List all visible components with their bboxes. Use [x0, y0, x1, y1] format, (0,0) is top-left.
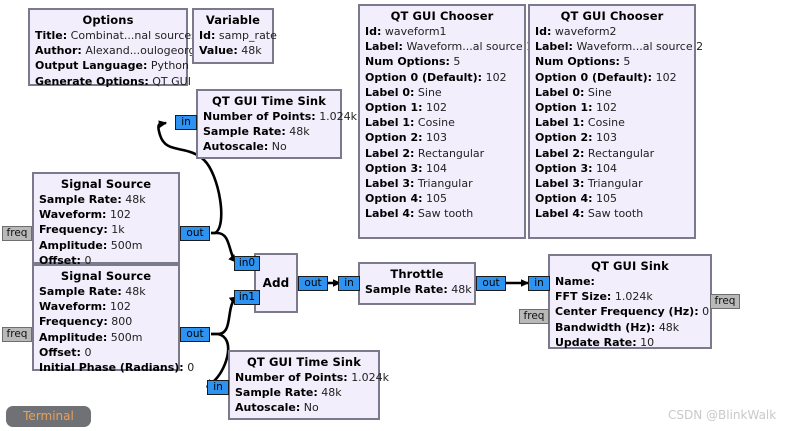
param-row: Id: waveform2 — [535, 24, 689, 39]
port-in0-add[interactable]: in0 — [234, 256, 260, 271]
param-value: 500m — [111, 331, 143, 344]
param-value: 48k — [659, 321, 679, 334]
param-value: Cosine — [588, 116, 625, 129]
param-value: 1.024k — [351, 371, 389, 384]
param-row: Title: Combinat...nal sources — [35, 28, 181, 43]
param-key: Bandwidth (Hz): — [555, 321, 655, 334]
param-row: Frequency: 1k — [39, 222, 173, 237]
param-row: Initial Phase (Radians): 0 — [39, 360, 173, 375]
param-key: Frequency: — [39, 223, 108, 236]
param-key: Label 0: — [365, 86, 414, 99]
param-key: Initial Phase (Radians): — [39, 361, 184, 374]
param-key: Author: — [35, 44, 82, 57]
block-add[interactable]: Add — [254, 253, 298, 313]
param-value: 800 — [111, 315, 132, 328]
param-value: Alexand...oulogeorgos — [85, 44, 208, 57]
param-value: 105 — [426, 192, 447, 205]
param-row: Update Rate: 10 — [555, 335, 705, 350]
param-value: Python — [151, 59, 189, 72]
param-key: Option 3: — [365, 162, 423, 175]
param-value: Triangular — [418, 177, 473, 190]
param-key: Number of Points: — [235, 371, 348, 384]
block-title: Throttle — [365, 266, 469, 282]
block-title: QT GUI Time Sink — [235, 354, 373, 370]
param-value: 48k — [289, 125, 309, 138]
port-in-timesink-bottom[interactable]: in — [207, 380, 229, 395]
param-key: Autoscale: — [203, 140, 268, 153]
param-key: Amplitude: — [39, 239, 107, 252]
param-key: Label 4: — [365, 207, 414, 220]
param-value: No — [304, 401, 319, 414]
param-key: Number of Points: — [203, 110, 316, 123]
param-row: Option 3: 104 — [365, 161, 519, 176]
param-key: Option 0 (Default): — [535, 71, 652, 84]
param-key: Option 2: — [365, 131, 423, 144]
param-row: Amplitude: 500m — [39, 330, 173, 345]
param-row: Number of Points: 1.024k — [203, 109, 335, 124]
param-key: Label 1: — [535, 116, 584, 129]
param-row: Label 1: Cosine — [535, 115, 689, 130]
block-qt-gui-chooser-2[interactable]: QT GUI Chooser Id: waveform2 Label: Wave… — [528, 4, 696, 239]
param-key: Output Language: — [35, 59, 147, 72]
param-key: Generate Options: — [35, 75, 149, 88]
param-value: 5 — [453, 55, 460, 68]
param-row: Autoscale: No — [235, 400, 373, 415]
param-value: 48k — [321, 386, 341, 399]
param-key: Option 1: — [365, 101, 423, 114]
param-value: Sine — [588, 86, 612, 99]
param-value: 48k — [125, 193, 145, 206]
param-value: 48k — [125, 285, 145, 298]
param-row: Frequency: 800 — [39, 314, 173, 329]
param-key: Waveform: — [39, 208, 106, 221]
param-key: Offset: — [39, 346, 81, 359]
param-value: Sine — [418, 86, 442, 99]
param-key: Sample Rate: — [365, 283, 448, 296]
block-qt-gui-time-sink-top[interactable]: QT GUI Time Sink Number of Points: 1.024… — [196, 89, 342, 159]
param-value: 0 — [84, 346, 91, 359]
param-key: Option 0 (Default): — [365, 71, 482, 84]
param-row: Label 3: Triangular — [535, 176, 689, 191]
param-value: 500m — [111, 239, 143, 252]
param-key: Update Rate: — [555, 336, 637, 349]
param-value: 103 — [596, 131, 617, 144]
param-value: 1.024k — [319, 110, 357, 123]
param-row: Option 1: 102 — [535, 100, 689, 115]
watermark-text: CSDN @BlinkWalk — [668, 407, 776, 423]
block-title: Variable — [199, 12, 267, 28]
port-out-signal-source-2[interactable]: out — [180, 327, 210, 342]
param-row: Output Language: Python — [35, 58, 181, 73]
param-value: Waveform...al source 2 — [576, 40, 703, 53]
param-key: Label 1: — [365, 116, 414, 129]
param-key: Frequency: — [39, 315, 108, 328]
param-row: Label 0: Sine — [365, 85, 519, 100]
block-title: QT GUI Sink — [555, 258, 705, 274]
param-row: Author: Alexand...oulogeorgos — [35, 43, 181, 58]
param-value: Rectangular — [418, 147, 484, 160]
wire-src1-to-add-in0 — [211, 233, 236, 262]
param-key: Sample Rate: — [39, 193, 122, 206]
terminal-button[interactable]: Terminal — [6, 406, 91, 427]
param-key: Id: — [365, 25, 381, 38]
param-value: Waveform...al source 1 — [406, 40, 533, 53]
block-title: Options — [35, 12, 181, 28]
param-row: Autoscale: No — [203, 139, 335, 154]
param-row: Option 2: 103 — [535, 130, 689, 145]
param-key: Label: — [535, 40, 573, 53]
param-row: Label: Waveform...al source 1 — [365, 39, 519, 54]
block-title: Signal Source — [39, 268, 173, 284]
param-value: Combinat...nal sources — [71, 29, 197, 42]
block-title: QT GUI Chooser — [365, 8, 519, 24]
param-row: Offset: 0 — [39, 345, 173, 360]
param-key: Option 3: — [535, 162, 593, 175]
param-row: Label: Waveform...al source 2 — [535, 39, 689, 54]
param-key: Option 2: — [535, 131, 593, 144]
param-value: Saw tooth — [588, 207, 643, 220]
param-row: Value: 48k — [199, 43, 267, 58]
param-key: Label: — [365, 40, 403, 53]
param-key: Label 3: — [535, 177, 584, 190]
param-key: Center Frequency (Hz): — [555, 305, 699, 318]
param-key: Title: — [35, 29, 67, 42]
param-key: Sample Rate: — [235, 386, 318, 399]
param-key: Name: — [555, 275, 595, 288]
param-row: Waveform: 102 — [39, 299, 173, 314]
param-row: Label 2: Rectangular — [535, 146, 689, 161]
port-out-signal-source-1[interactable]: out — [180, 226, 210, 241]
block-qt-gui-chooser-1[interactable]: QT GUI Chooser Id: waveform1 Label: Wave… — [358, 4, 526, 239]
param-value: Rectangular — [588, 147, 654, 160]
param-value: No — [272, 140, 287, 153]
param-value: Cosine — [418, 116, 455, 129]
param-row: Sample Rate: 48k — [39, 284, 173, 299]
param-value: 48k — [451, 283, 471, 296]
param-row: Name: — [555, 274, 705, 289]
block-qt-gui-sink[interactable]: QT GUI Sink Name: FFT Size: 1.024k Cente… — [548, 254, 712, 349]
param-row: Label 0: Sine — [535, 85, 689, 100]
port-in1-add[interactable]: in1 — [234, 290, 260, 305]
param-key: Label 3: — [365, 177, 414, 190]
param-row: Sample Rate: 48k — [39, 192, 173, 207]
param-row: Option 1: 102 — [365, 100, 519, 115]
param-key: FFT Size: — [555, 290, 611, 303]
block-variable[interactable]: Variable Id: samp_rate Value: 48k — [192, 8, 274, 64]
param-value: 102 — [596, 101, 617, 114]
param-value: 102 — [486, 71, 507, 84]
param-value: 1k — [111, 223, 124, 236]
param-row: Label 2: Rectangular — [365, 146, 519, 161]
param-row: Sample Rate: 48k — [203, 124, 335, 139]
param-value: 5 — [623, 55, 630, 68]
param-row: Waveform: 102 — [39, 207, 173, 222]
block-title: QT GUI Chooser — [535, 8, 689, 24]
param-row: Center Frequency (Hz): 0 — [555, 304, 705, 319]
param-value: 103 — [426, 131, 447, 144]
param-key: Autoscale: — [235, 401, 300, 414]
param-value: 102 — [110, 300, 131, 313]
param-value: 105 — [596, 192, 617, 205]
port-out-throttle[interactable]: out — [476, 276, 506, 291]
param-row: Option 4: 105 — [535, 191, 689, 206]
param-row: Label 1: Cosine — [365, 115, 519, 130]
port-freq-right-qt-gui-sink[interactable]: freq — [710, 294, 740, 309]
param-row: Generate Options: QT GUI — [35, 74, 181, 89]
param-row: Option 3: 104 — [535, 161, 689, 176]
port-in-timesink-top[interactable]: in — [175, 115, 197, 130]
param-value: 102 — [656, 71, 677, 84]
param-row: Label 4: Saw tooth — [365, 206, 519, 221]
port-freq-signal-source-2[interactable]: freq — [2, 327, 32, 342]
block-title: QT GUI Time Sink — [203, 93, 335, 109]
block-signal-source-1[interactable]: Signal Source Sample Rate: 48k Waveform:… — [32, 172, 180, 264]
param-row: Option 4: 105 — [365, 191, 519, 206]
param-row: FFT Size: 1.024k — [555, 289, 705, 304]
param-key: Id: — [535, 25, 551, 38]
param-key: Num Options: — [365, 55, 450, 68]
param-row: Id: waveform1 — [365, 24, 519, 39]
param-row: Label 4: Saw tooth — [535, 206, 689, 221]
param-row: Option 0 (Default): 102 — [365, 70, 519, 85]
param-row: Sample Rate: 48k — [235, 385, 373, 400]
param-value: 102 — [110, 208, 131, 221]
block-signal-source-2[interactable]: Signal Source Sample Rate: 48k Waveform:… — [32, 264, 180, 371]
param-row: Label 3: Triangular — [365, 176, 519, 191]
param-value: 10 — [640, 336, 654, 349]
port-out-add[interactable]: out — [298, 276, 328, 291]
param-value: 0 — [187, 361, 194, 374]
param-value: Triangular — [588, 177, 643, 190]
param-value: 102 — [426, 101, 447, 114]
param-row: Bandwidth (Hz): 48k — [555, 320, 705, 335]
param-key: Option 4: — [535, 192, 593, 205]
param-value: Saw tooth — [418, 207, 473, 220]
param-value: 1.024k — [615, 290, 653, 303]
param-key: Id: — [199, 29, 215, 42]
param-row: Num Options: 5 — [535, 54, 689, 69]
port-freq-left-qt-gui-sink[interactable]: freq — [519, 309, 549, 324]
block-throttle[interactable]: Throttle Sample Rate: 48k — [358, 262, 476, 305]
param-value: 48k — [241, 44, 261, 57]
param-value: waveform1 — [385, 25, 447, 38]
param-row: Amplitude: 500m — [39, 238, 173, 253]
param-key: Value: — [199, 44, 238, 57]
param-key: Option 4: — [365, 192, 423, 205]
port-freq-signal-source-1[interactable]: freq — [2, 226, 32, 241]
block-qt-gui-time-sink-bottom[interactable]: QT GUI Time Sink Number of Points: 1.024… — [228, 350, 380, 420]
param-row: Sample Rate: 48k — [365, 282, 469, 297]
flowgraph-canvas[interactable]: Options Title: Combinat...nal sources Au… — [0, 0, 799, 431]
block-options[interactable]: Options Title: Combinat...nal sources Au… — [28, 8, 188, 86]
param-key: Option 1: — [535, 101, 593, 114]
port-in-qt-gui-sink[interactable]: in — [528, 276, 550, 291]
param-key: Sample Rate: — [203, 125, 286, 138]
port-in-throttle[interactable]: in — [338, 276, 360, 291]
param-row: Id: samp_rate — [199, 28, 267, 43]
param-row: Option 2: 103 — [365, 130, 519, 145]
param-value: 104 — [426, 162, 447, 175]
param-key: Label 0: — [535, 86, 584, 99]
param-value: waveform2 — [555, 25, 617, 38]
param-value: QT GUI — [152, 75, 191, 88]
param-row: Option 0 (Default): 102 — [535, 70, 689, 85]
param-value: samp_rate — [219, 29, 277, 42]
param-key: Label 4: — [535, 207, 584, 220]
param-key: Label 2: — [365, 147, 414, 160]
param-key: Amplitude: — [39, 331, 107, 344]
param-key: Waveform: — [39, 300, 106, 313]
block-title: Add — [263, 275, 290, 291]
param-row: Number of Points: 1.024k — [235, 370, 373, 385]
param-value: 0 — [702, 305, 709, 318]
param-row: Num Options: 5 — [365, 54, 519, 69]
param-value: 104 — [596, 162, 617, 175]
param-key: Num Options: — [535, 55, 620, 68]
block-title: Signal Source — [39, 176, 173, 192]
param-key: Sample Rate: — [39, 285, 122, 298]
param-key: Label 2: — [535, 147, 584, 160]
